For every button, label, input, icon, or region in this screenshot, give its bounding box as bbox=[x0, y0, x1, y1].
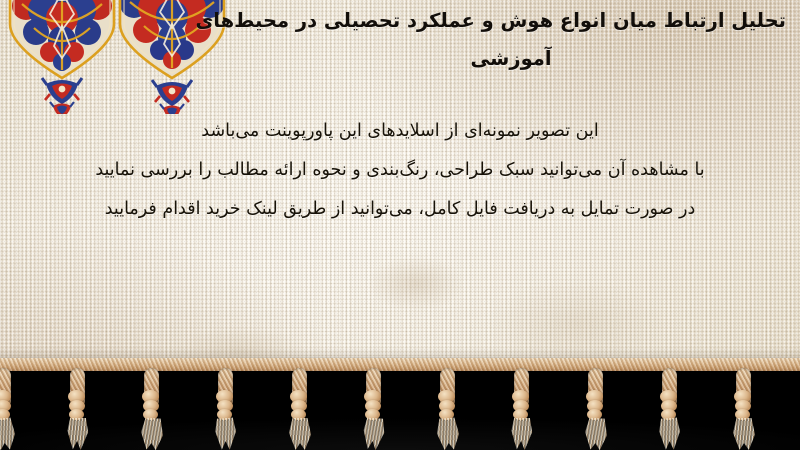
slide-body: این تصویر نمونه‌ای از اسلایدهای این پاور… bbox=[0, 112, 800, 229]
tassel-threads bbox=[289, 418, 311, 450]
fringe-tassel bbox=[204, 368, 258, 450]
tassel-threads bbox=[436, 417, 460, 450]
fringe-tassel bbox=[56, 368, 110, 450]
slide-body-line-3: در صورت تمایل به دریافت فایل کامل، می‌تو… bbox=[0, 190, 800, 229]
tassel-fringe bbox=[0, 362, 800, 450]
tassel-threads bbox=[214, 417, 238, 450]
tassel-threads bbox=[362, 417, 386, 450]
slide-title-line-1: تحلیل ارتباط میان انواع هوش و عملکرد تحص… bbox=[236, 2, 786, 40]
tassel-threads bbox=[0, 417, 16, 450]
tassel-threads bbox=[658, 417, 682, 450]
tassel-threads bbox=[140, 417, 164, 450]
slide-body-line-1: این تصویر نمونه‌ای از اسلایدهای این پاور… bbox=[0, 112, 800, 151]
fringe-tassel bbox=[722, 368, 776, 450]
tassel-threads bbox=[584, 417, 608, 450]
slide-title: تحلیل ارتباط میان انواع هوش و عملکرد تحص… bbox=[0, 2, 800, 78]
fringe-tassel bbox=[352, 368, 406, 450]
fringe-tassel bbox=[0, 368, 36, 450]
fringe-tassel bbox=[500, 368, 554, 450]
fringe-tassel bbox=[426, 368, 480, 450]
fringe-tassel bbox=[796, 368, 800, 450]
slide-title-line-2: آموزشی bbox=[236, 40, 786, 78]
fringe-tassel bbox=[648, 368, 702, 450]
fringe-tassel bbox=[574, 368, 628, 450]
fringe-tassel bbox=[130, 368, 184, 450]
tassel-threads bbox=[733, 418, 755, 450]
slide-body-line-2: با مشاهده آن می‌توانید سبک طراحی، رنگ‌بن… bbox=[0, 151, 800, 190]
fringe-tassel bbox=[278, 368, 332, 450]
tassel-threads bbox=[67, 418, 89, 450]
presentation-slide: تحلیل ارتباط میان انواع هوش و عملکرد تحص… bbox=[0, 0, 800, 450]
tassel-threads bbox=[511, 418, 533, 450]
